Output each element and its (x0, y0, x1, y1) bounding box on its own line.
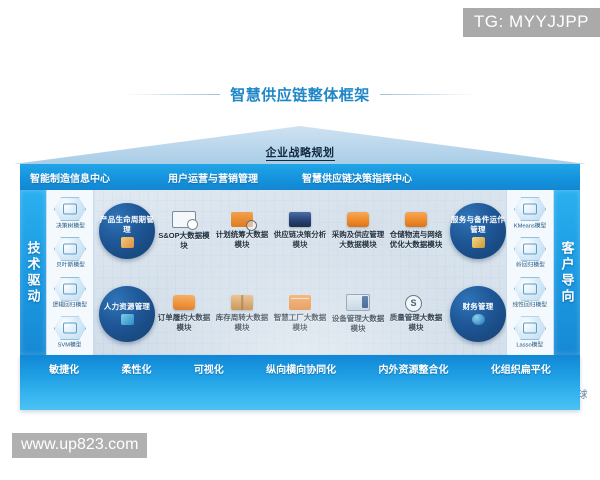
human-resources-icon (121, 314, 134, 325)
logistic-regression-model-icon (54, 277, 86, 301)
circle-product-lifecycle: 产品生命周期管理 (99, 203, 155, 259)
model-label: SVM模型 (58, 341, 82, 349)
factory-icon (289, 295, 311, 310)
left-model-strip: 决策树模型 贝叶斯模型 逻辑回归模型 SVM模型 (46, 190, 94, 355)
model-item: SVM模型 (47, 316, 93, 348)
right-model-strip: KMeans模型 岭回归模型 线性回归模型 Lasso模型 (506, 190, 554, 355)
module-sop: S&OP大数据模块 (155, 211, 213, 251)
module-supply-chain-decision: 供应链决策分析模块 (271, 212, 329, 250)
module-label: 设备管理大数据模块 (331, 314, 385, 334)
service-parts-icon (472, 237, 485, 248)
module-label: 供应链决策分析模块 (273, 230, 327, 250)
module-label: 订单履约大数据模块 (157, 313, 211, 333)
model-label: 逻辑回归模型 (53, 301, 87, 309)
machine-icon (346, 294, 370, 311)
module-row-1: 产品生命周期管理 S&OP大数据模块 计划统筹大数据模块 供应链决策分析模块 (94, 190, 506, 273)
roof-label: 企业战略规划 (14, 144, 586, 160)
top-centers-bar: 智能制造信息中心 用户运营与营销管理 智慧供应链决策指挥中心 (20, 164, 580, 190)
top-center-item-2: 用户运营与营销管理 (168, 170, 258, 185)
foundation-item-1: 敏捷化 (49, 361, 79, 376)
telegram-watermark: TG: MYYJJPP (463, 8, 600, 37)
module-planning: 计划统筹大数据模块 (213, 212, 271, 250)
model-label: 岭回归模型 (516, 262, 545, 270)
module-label: 质量管理大数据模块 (389, 313, 443, 333)
module-order-fulfillment: 订单履约大数据模块 (155, 295, 213, 333)
circle-label: 产品生命周期管理 (99, 215, 155, 235)
ridge-regression-model-icon (514, 237, 546, 261)
circle-label: 人力资源管理 (104, 302, 150, 312)
module-row-2: 人力资源管理 订单履约大数据模块 库存周转大数据模块 智慧工厂大数据模块 (94, 273, 506, 356)
warehouse-network-icon (405, 212, 427, 227)
diagram-title-row: 智慧供应链整体框架 (0, 84, 600, 105)
model-label: 决策树模型 (56, 222, 85, 230)
product-lifecycle-icon (121, 237, 134, 248)
module-equipment-management: 设备管理大数据模块 (329, 294, 387, 334)
right-pillar-label: 客户导向 (558, 241, 577, 305)
title-rule-left (124, 94, 220, 95)
linear-regression-model-icon (514, 277, 546, 301)
foundation-item-3: 可视化 (194, 361, 224, 376)
module-procurement: 采购及供应管理大数据模块 (329, 212, 387, 250)
model-label: Lasso模型 (517, 341, 544, 349)
analysis-box-icon (289, 212, 311, 227)
model-item: 线性回归模型 (507, 277, 553, 309)
bayes-model-icon (54, 237, 86, 261)
model-label: 线性回归模型 (513, 301, 547, 309)
model-item: 岭回归模型 (507, 237, 553, 269)
order-fulfillment-icon (173, 295, 195, 310)
top-center-item-3: 智慧供应链决策指挥中心 (302, 170, 412, 185)
finance-globe-icon (472, 314, 485, 325)
right-pillar-customer-oriented: 客户导向 (554, 190, 580, 355)
module-label: 仓储物流与网络优化大数据模块 (389, 230, 443, 250)
foundation-item-6: 化组织扁平化 (491, 361, 551, 376)
title-rule-right (380, 94, 476, 95)
magnifier-icon (231, 212, 253, 227)
module-warehouse-logistics: 仓储物流与网络优化大数据模块 (387, 212, 445, 250)
module-label: 库存周转大数据模块 (215, 313, 269, 333)
foundation-item-4: 纵向横向协同化 (266, 361, 336, 376)
quality-seal-icon: S (405, 295, 427, 310)
circle-label: 服务与备件运作管理 (450, 215, 506, 235)
module-label: 计划统筹大数据模块 (215, 230, 269, 250)
model-item: KMeans模型 (507, 197, 553, 229)
foundation-item-5: 内外资源整合化 (378, 361, 448, 376)
framework-house: 企业战略规划 智能制造信息中心 用户运营与营销管理 智慧供应链决策指挥中心 技术… (14, 126, 586, 390)
model-label: KMeans模型 (514, 222, 547, 230)
module-label: 采购及供应管理大数据模块 (331, 230, 385, 250)
roof-label-text: 企业战略规划 (266, 147, 335, 161)
foundation-items: 敏捷化 柔性化 可视化 纵向横向协同化 内外资源整合化 化组织扁平化 (20, 359, 580, 377)
procurement-icon (347, 212, 369, 227)
foundation-item-2: 柔性化 (121, 361, 151, 376)
circle-human-resources: 人力资源管理 (99, 286, 155, 342)
center-board: 产品生命周期管理 S&OP大数据模块 计划统筹大数据模块 供应链决策分析模块 (94, 190, 506, 355)
top-center-item-1: 智能制造信息中心 (30, 170, 110, 185)
circle-service-parts: 服务与备件运作管理 (450, 203, 506, 259)
left-pillar-label: 技术驱动 (24, 241, 43, 305)
lasso-model-icon (514, 316, 546, 340)
site-url-watermark: www.up823.com (12, 433, 147, 458)
kmeans-model-icon (514, 197, 546, 221)
foundation-bar: 敏捷化 柔性化 可视化 纵向横向协同化 内外资源整合化 化组织扁平化 (20, 355, 580, 410)
svm-model-icon (54, 316, 86, 340)
decision-tree-model-icon (54, 197, 86, 221)
circle-finance: 财务管理 (450, 286, 506, 342)
module-inventory-turnover: 库存周转大数据模块 (213, 295, 271, 333)
left-pillar-tech-driven: 技术驱动 (20, 190, 46, 355)
model-label: 贝叶斯模型 (56, 262, 85, 270)
module-quality-management: S 质量管理大数据模块 (387, 295, 445, 333)
model-item: 逻辑回归模型 (47, 277, 93, 309)
model-item: Lasso模型 (507, 316, 553, 348)
house-body: 技术驱动 决策树模型 贝叶斯模型 逻辑回归模型 SVM模型 (20, 190, 580, 355)
module-label: 智慧工厂大数据模块 (273, 313, 327, 333)
module-smart-factory: 智慧工厂大数据模块 (271, 295, 329, 333)
circle-label: 财务管理 (463, 302, 494, 312)
model-item: 贝叶斯模型 (47, 237, 93, 269)
document-clock-icon (172, 211, 196, 228)
model-item: 决策树模型 (47, 197, 93, 229)
module-grid: 产品生命周期管理 S&OP大数据模块 计划统筹大数据模块 供应链决策分析模块 (94, 190, 506, 355)
carton-box-icon (231, 295, 253, 310)
module-label: S&OP大数据模块 (157, 231, 211, 251)
page-title: 智慧供应链整体框架 (220, 84, 380, 105)
